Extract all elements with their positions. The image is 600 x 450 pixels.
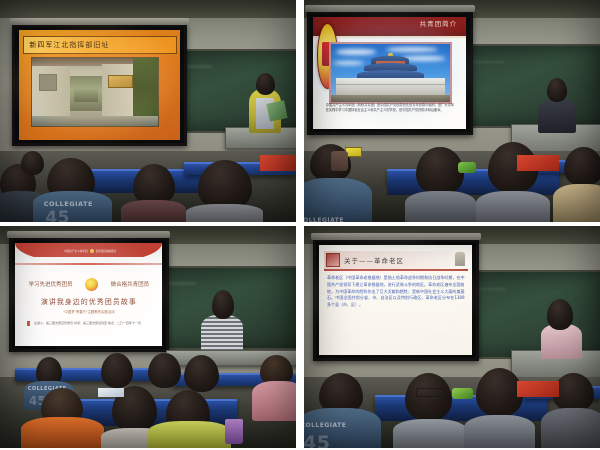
student-body	[121, 200, 186, 222]
student-yellow-hoodie	[148, 421, 231, 448]
slide-new-fourth-army: 新四军江北指挥部旧址	[19, 30, 180, 140]
slide-revolutionary-base-areas: 关于——革命老区 革命老区（中国革命老根据地）是指土地革命战争时期和抗日战争时期…	[319, 245, 472, 355]
red-bag	[517, 155, 558, 171]
projector-screen[interactable]: 中国共产主义青年团 优秀团员事迹报告 学习先进优秀团员 做合格共青团员 演讲我身…	[9, 237, 169, 352]
slogan-left: 学习先进优秀团员	[28, 280, 72, 288]
student-body	[464, 415, 535, 448]
slide-title-banner: 共青团简介	[313, 17, 466, 38]
slide-red-rule	[15, 263, 162, 265]
slide-cyl-intro: 共青团简介 中国共产主义青年团（简称共青团）是中	[313, 17, 466, 129]
eyeglasses-icon	[416, 388, 445, 397]
corridor-floor	[32, 116, 158, 126]
collage-panel-top-right[interactable]: 共青团简介 中国共产主义青年团（简称共青团）是中	[304, 0, 600, 222]
student-body	[553, 184, 600, 222]
slide-caption-text: 中国共产主义青年团（简称共青团）是中国共产党领导的先进青年的群众组织，是广大青年…	[326, 103, 454, 113]
corridor-scene	[32, 58, 158, 126]
projector-screen[interactable]: 新四军江北指挥部旧址	[12, 24, 187, 145]
presenter-head	[547, 299, 574, 330]
green-object	[458, 162, 476, 173]
slide-title: 新四军江北指挥部旧址	[24, 40, 109, 50]
student-body	[186, 204, 263, 222]
projector-screen[interactable]: 关于——革命老区 革命老区（中国革命老根据地）是指土地革命战争时期和抗日战争时期…	[313, 239, 479, 360]
emblem-dot-icon	[90, 249, 94, 253]
corridor-doorway	[70, 76, 101, 111]
green-object	[452, 388, 473, 399]
screen-roller	[305, 5, 474, 12]
presenter-body	[538, 98, 576, 134]
book-icon	[326, 253, 340, 267]
corridor-wall-right	[102, 64, 136, 118]
student-head	[476, 368, 523, 417]
red-bag	[517, 381, 558, 397]
temple-marble-terrace	[336, 78, 446, 94]
slide-photo-temple-of-heaven	[329, 42, 452, 104]
slide-title-bar: 新四军江北指挥部旧址	[23, 36, 177, 54]
figure-icon	[455, 252, 465, 266]
slide-title: 关于——革命老区	[344, 255, 404, 265]
slide-meta: 主讲人：第三团支部宣传委员 时间：第三团支部活动室 地点：二〇一四年十一月	[27, 321, 141, 326]
jacket-number: 45	[45, 208, 70, 222]
collage-panel-top-left[interactable]: 新四军江北指挥部旧址	[0, 0, 296, 222]
projector-screen[interactable]: 共青团简介 中国共产主义青年团（简称共青团）是中	[307, 11, 473, 135]
screen-roller	[10, 18, 189, 25]
temple-ground	[331, 95, 450, 102]
slide-slogan-row: 学习先进优秀团员 做合格共青团员	[28, 278, 149, 291]
jacket-number: 45	[304, 432, 331, 448]
slide-title-league-member: 中国共产主义青年团 优秀团员事迹报告 学习先进优秀团员 做合格共青团员 演讲我身…	[15, 243, 162, 346]
notebook	[98, 388, 125, 397]
student-denim-jacket: COLLEGIATE	[304, 178, 372, 222]
student-body	[393, 419, 467, 448]
collage-panel-bottom-right[interactable]: 关于——革命老区 革命老区（中国革命老根据地）是指土地革命战争时期和抗日战争时期…	[304, 226, 600, 448]
cyl-emblem-icon	[85, 278, 98, 291]
student-head	[184, 355, 220, 393]
presenter-striped-sweater	[201, 315, 242, 355]
presenter-head	[256, 73, 275, 95]
green-book	[266, 100, 287, 121]
student-head	[21, 151, 45, 175]
student-jacket-collegiate: COLLEGIATE 45	[33, 191, 113, 222]
presenter-head	[212, 290, 234, 319]
student-body	[541, 408, 600, 448]
slide-header-left: 中国共产主义青年团	[64, 249, 87, 253]
blackboard	[458, 44, 600, 128]
collage-panel-bottom-left[interactable]: 中国共产主义青年团 优秀团员事迹报告 学习先进优秀团员 做合格共青团员 演讲我身…	[0, 226, 296, 448]
purple-water-bottle	[225, 419, 243, 443]
slide-body-text: 革命老区（中国革命老根据地）是指土地革命战争时期和抗日战争时期，在中国共产党领导…	[327, 275, 465, 309]
slide-header-right: 优秀团员事迹报告	[96, 249, 117, 253]
raised-arm	[331, 151, 349, 171]
corridor-window	[39, 74, 57, 91]
student-head	[416, 147, 463, 196]
student-body	[252, 381, 296, 421]
student-jacket-collegiate: COLLEGIATE 45	[304, 408, 381, 448]
student-head	[405, 373, 452, 422]
student-head	[198, 160, 251, 211]
jacket-text-collegiate: COLLEGIATE	[304, 217, 344, 222]
slide-photo-corridor	[31, 57, 159, 127]
slogan-right: 做合格共青团员	[111, 280, 150, 288]
red-bag	[260, 155, 296, 171]
student-body	[476, 191, 550, 222]
screen-roller	[7, 231, 170, 238]
slide-header: 关于——革命老区	[324, 251, 468, 272]
photo-collage: 新四军江北指挥部旧址	[0, 0, 600, 450]
student-head	[553, 373, 594, 413]
slide-main-title: 演讲我身边的优秀团员故事	[15, 297, 162, 307]
slide-subtitle: "中国梦·青春行"主题教育实践活动	[15, 309, 162, 314]
memorial-plaque	[108, 75, 133, 88]
student-orange-hoodie	[21, 417, 104, 448]
student-body	[405, 191, 476, 222]
jacket-text-collegiate: COLLEGIATE	[304, 422, 346, 429]
slide-title: 共青团简介	[420, 18, 458, 28]
slide-top-arc	[15, 243, 162, 264]
slide-header-row: 中国共产主义青年团 优秀团员事迹报告	[59, 248, 121, 253]
student-head	[564, 147, 600, 187]
student-head	[148, 353, 181, 389]
jacket-text-collegiate: COLLEGIATE	[44, 200, 93, 208]
screen-roller	[311, 233, 480, 240]
